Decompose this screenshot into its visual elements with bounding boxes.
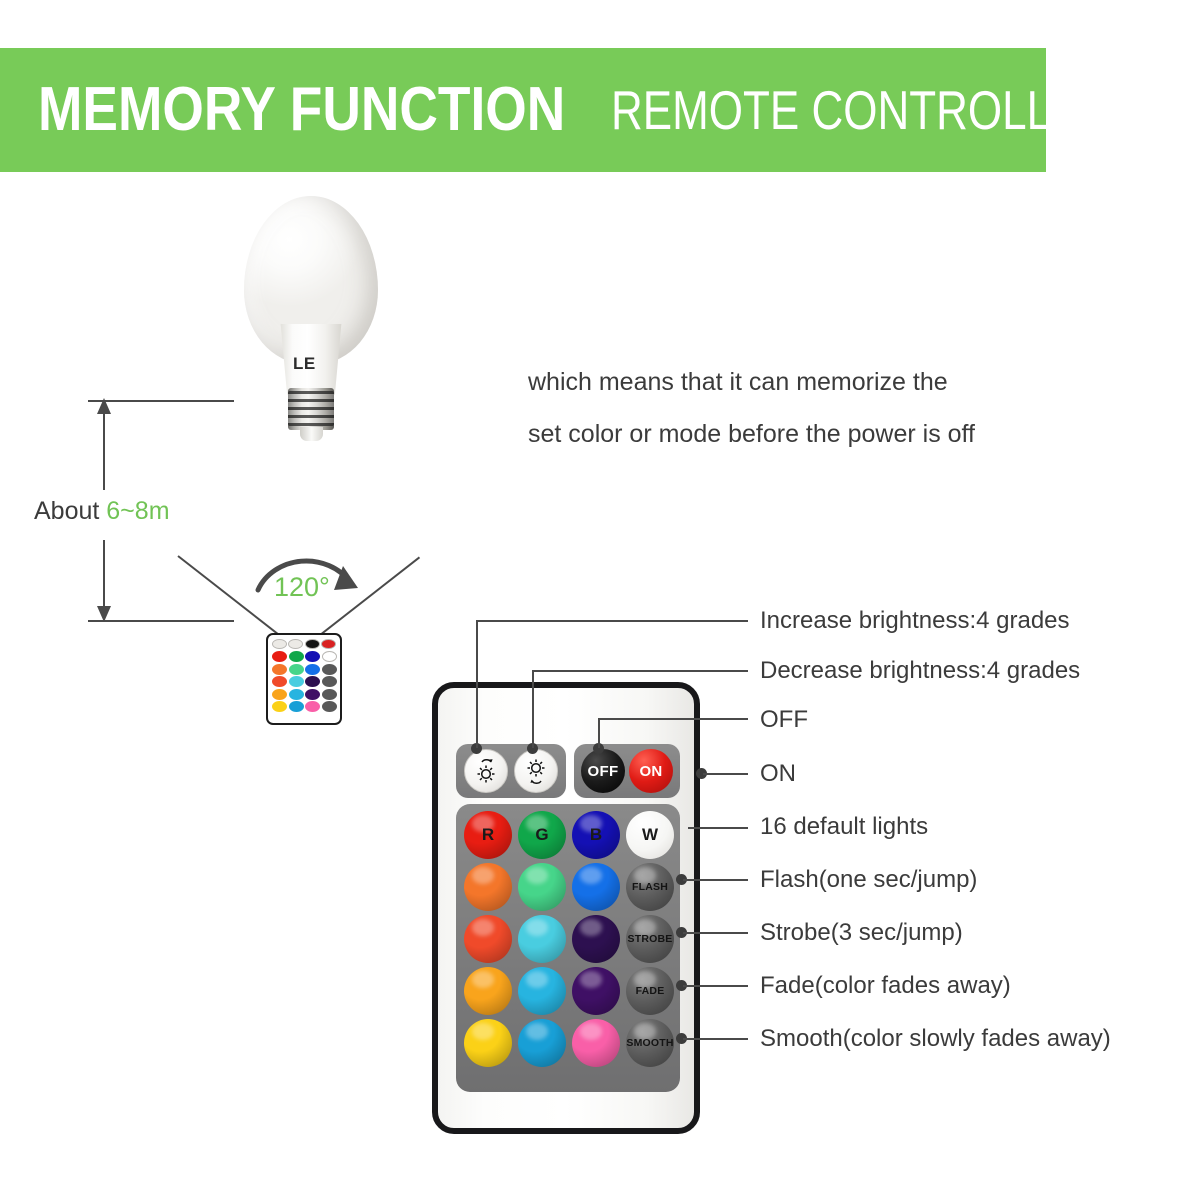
color-button-12[interactable] [464,967,512,1015]
color-button-w[interactable]: W [626,811,674,859]
callout-hline-smooth [683,1038,748,1040]
callout-label-smooth: Smooth(color slowly fades away) [760,1025,1111,1053]
mode-button-flash[interactable]: FLASH [626,863,674,911]
color-button-14[interactable] [572,967,620,1015]
mini-color-cell [289,701,304,712]
color-button-grid: RGBWFLASHSTROBEFADESMOOTH [464,811,672,1067]
callout-hline-strobe [683,932,748,934]
color-button-4[interactable] [464,863,512,911]
on-button[interactable]: ON [629,749,673,793]
callout-label-on: ON [760,760,796,788]
callout-label-increase: Increase brightness:4 grades [760,607,1070,635]
mini-color-cell [272,664,287,675]
color-button-label: G [535,825,548,845]
sun-down-icon [522,756,550,786]
callout-label-off: OFF [760,706,808,734]
color-button-label: W [642,825,658,845]
color-button-b[interactable]: B [572,811,620,859]
infographic-page: MEMORY FUNCTION REMOTE CONTROLLER LE Abo… [0,0,1200,1200]
mini-color-cell [305,689,320,700]
mini-color-cell [272,676,287,687]
dimension-line-lower [103,540,105,614]
mini-color-cell [322,651,337,662]
callout-hline-fade [683,985,748,987]
mode-button-strobe[interactable]: STROBE [626,915,674,963]
sun-up-icon [472,756,500,786]
mini-color-cell [322,689,337,700]
callout-hline-default [688,827,748,829]
callout-label-flash: Flash(one sec/jump) [760,866,977,894]
color-button-13[interactable] [518,967,566,1015]
mini-on-icon [321,639,336,649]
mini-color-cell [305,664,320,675]
callout-label-decrease: Decrease brightness:4 grades [760,657,1080,685]
dimension-line-upper [103,406,105,490]
range-prefix: About [34,497,106,525]
color-button-label: R [482,825,494,845]
mini-color-cell [289,676,304,687]
mini-off-icon [305,639,320,649]
color-button-6[interactable] [572,863,620,911]
off-button[interactable]: OFF [581,749,625,793]
mode-button-fade[interactable]: FADE [626,967,674,1015]
color-button-8[interactable] [464,915,512,963]
mini-color-cell [272,689,287,700]
callout-label-default: 16 default lights [760,813,928,841]
mini-color-cell [289,689,304,700]
callout-vline-increase [476,620,478,748]
callout-vline-decrease [532,670,534,748]
mini-color-cell [322,676,337,687]
header-banner: MEMORY FUNCTION REMOTE CONTROLLER [0,48,1046,172]
mini-color-cell [322,664,337,675]
mini-brightness-up-icon [272,639,287,649]
description-line-2: set color or mode before the power is of… [528,408,975,460]
banner-title-light: REMOTE CONTROLLER [611,83,1046,138]
color-button-17[interactable] [518,1019,566,1067]
mini-brightness-down-icon [288,639,303,649]
callout-hline-off [598,718,748,720]
callout-hline-on [703,773,748,775]
color-button-5[interactable] [518,863,566,911]
color-button-label: B [590,825,602,845]
color-button-r[interactable]: R [464,811,512,859]
remote-color-panel: RGBWFLASHSTROBEFADESMOOTH [456,804,680,1092]
remote-top-panel: OFF ON [456,744,680,798]
color-button-label: FLASH [632,881,668,893]
mini-remote-top-row [272,639,336,649]
dimension-arrow-down-icon [97,606,111,622]
banner-title-bold: MEMORY FUNCTION [38,79,565,141]
mini-color-cell [289,651,304,662]
callout-hline-decrease [532,670,748,672]
led-bulb-image: LE [238,196,386,446]
mini-color-cell [272,701,287,712]
mini-color-cell [305,676,320,687]
mini-color-cell [305,701,320,712]
bulb-screw-base [288,388,334,430]
color-button-9[interactable] [518,915,566,963]
mini-remote-color-grid [272,651,336,712]
mini-color-cell [305,651,320,662]
color-button-16[interactable] [464,1019,512,1067]
color-button-label: SMOOTH [626,1037,673,1049]
mini-color-cell [289,664,304,675]
callout-label-fade: Fade(color fades away) [760,972,1011,1000]
callout-hline-flash [683,879,748,881]
angle-label: 120° [274,572,330,603]
color-button-label: STROBE [628,933,673,945]
mini-remote-thumbnail [266,633,342,725]
brightness-down-button[interactable] [514,749,558,793]
callout-label-strobe: Strobe(3 sec/jump) [760,919,963,947]
color-button-label: FADE [636,985,665,997]
color-button-10[interactable] [572,915,620,963]
range-value: 6~8m [106,497,169,525]
callout-vline-off [598,718,600,748]
description-text: which means that it can memorize the set… [528,356,975,460]
callout-hline-increase [476,620,748,622]
color-button-g[interactable]: G [518,811,566,859]
mode-button-smooth[interactable]: SMOOTH [626,1019,674,1067]
brightness-up-button[interactable] [464,749,508,793]
bulb-brand-label: LE [293,354,316,374]
mini-color-cell [322,701,337,712]
bulb-base-tip [300,427,323,441]
power-panel: OFF ON [574,744,680,798]
description-line-1: which means that it can memorize the [528,356,975,408]
color-button-18[interactable] [572,1019,620,1067]
mini-color-cell [272,651,287,662]
range-label: About 6~8m [34,497,170,526]
